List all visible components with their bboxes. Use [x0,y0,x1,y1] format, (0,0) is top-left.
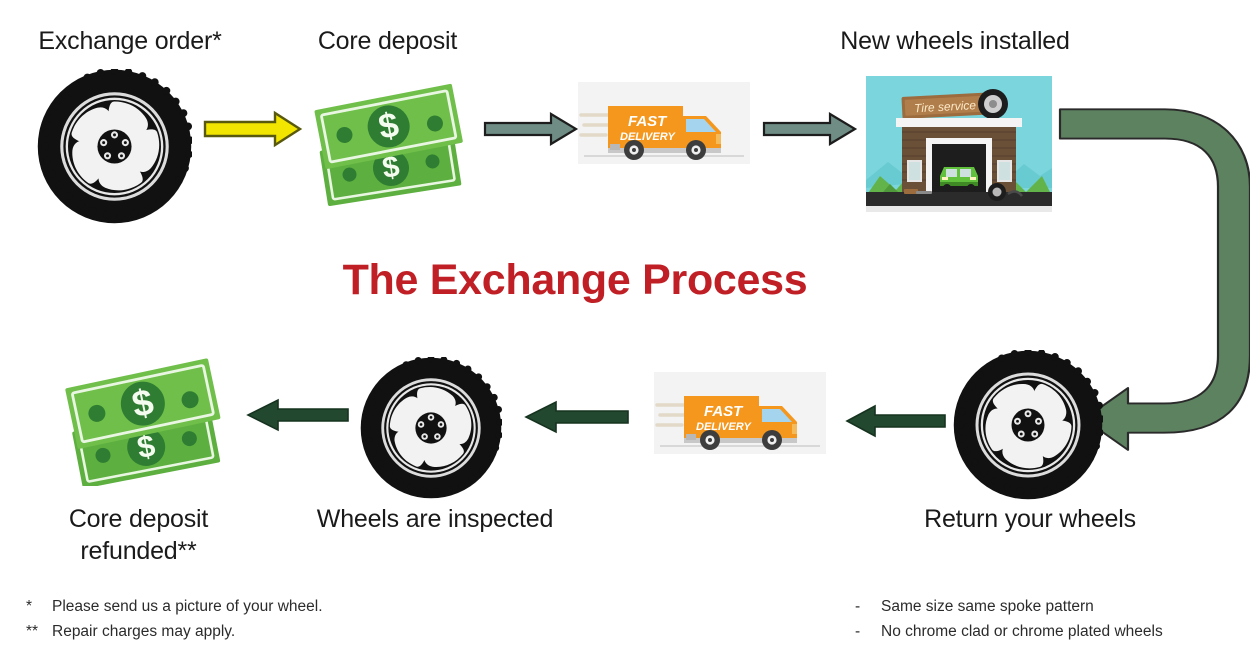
step-label-return-your-wheels: Return your wheels [880,504,1180,536]
truck-text-fast: FAST [628,113,668,130]
truck-text-delivery: DELIVERY [620,131,676,143]
step-label-exchange-order: Exchange order* [0,26,260,58]
footnote-mark: ** [26,619,52,644]
footnote-text: Repair charges may apply. [52,619,235,644]
step-label-new-wheels-installed: New wheels installed [800,26,1110,58]
tire-service-shop-icon: Tire service [866,76,1052,212]
arrow-inspect-to-refund [244,398,350,432]
step-label-core-deposit: Core deposit [270,26,505,58]
footnotes-right: - Same size same spoke pattern - No chro… [855,594,1250,644]
fast-delivery-truck-icon-return: FAST DELIVERY [654,372,826,454]
alloy-wheel-icon-return [953,350,1103,500]
footnote-text: Same size same spoke pattern [881,594,1094,619]
alloy-wheel-icon [37,69,192,224]
footnote-text: Please send us a picture of your wheel. [52,594,323,619]
step-label-wheels-inspected: Wheels are inspected [290,504,580,536]
footnote-mark: * [26,594,52,619]
cash-money-icon: $ $ [305,76,477,206]
footnote-right-2: - No chrome clad or chrome plated wheels [855,619,1250,644]
arrow-order-to-deposit [203,110,303,148]
arrow-truck-to-shop [762,110,858,148]
alloy-wheel-icon-inspected [360,357,502,499]
footnote-left-1: * Please send us a picture of your wheel… [26,594,486,619]
footnote-text: No chrome clad or chrome plated wheels [881,619,1163,644]
cash-money-icon-refund: $ $ [56,352,236,486]
truck-text-delivery: DELIVERY [696,421,752,433]
step-label-core-deposit-refunded: Core deposit refunded** [16,504,261,567]
arrow-deposit-to-truck [483,110,579,148]
footnote-mark: - [855,594,881,619]
page-title: The Exchange Process [275,256,875,305]
footnote-left-2: ** Repair charges may apply. [26,619,486,644]
footnote-right-1: - Same size same spoke pattern [855,594,1250,619]
footnote-mark: - [855,619,881,644]
fast-delivery-truck-icon: FAST DELIVERY [578,82,750,164]
arrow-truck-to-inspect [522,400,630,434]
truck-text-fast: FAST [704,403,744,420]
exchange-process-diagram: Exchange order* [0,0,1250,666]
arrow-return-to-truck [843,404,947,438]
footnotes-left: * Please send us a picture of your wheel… [26,594,486,644]
